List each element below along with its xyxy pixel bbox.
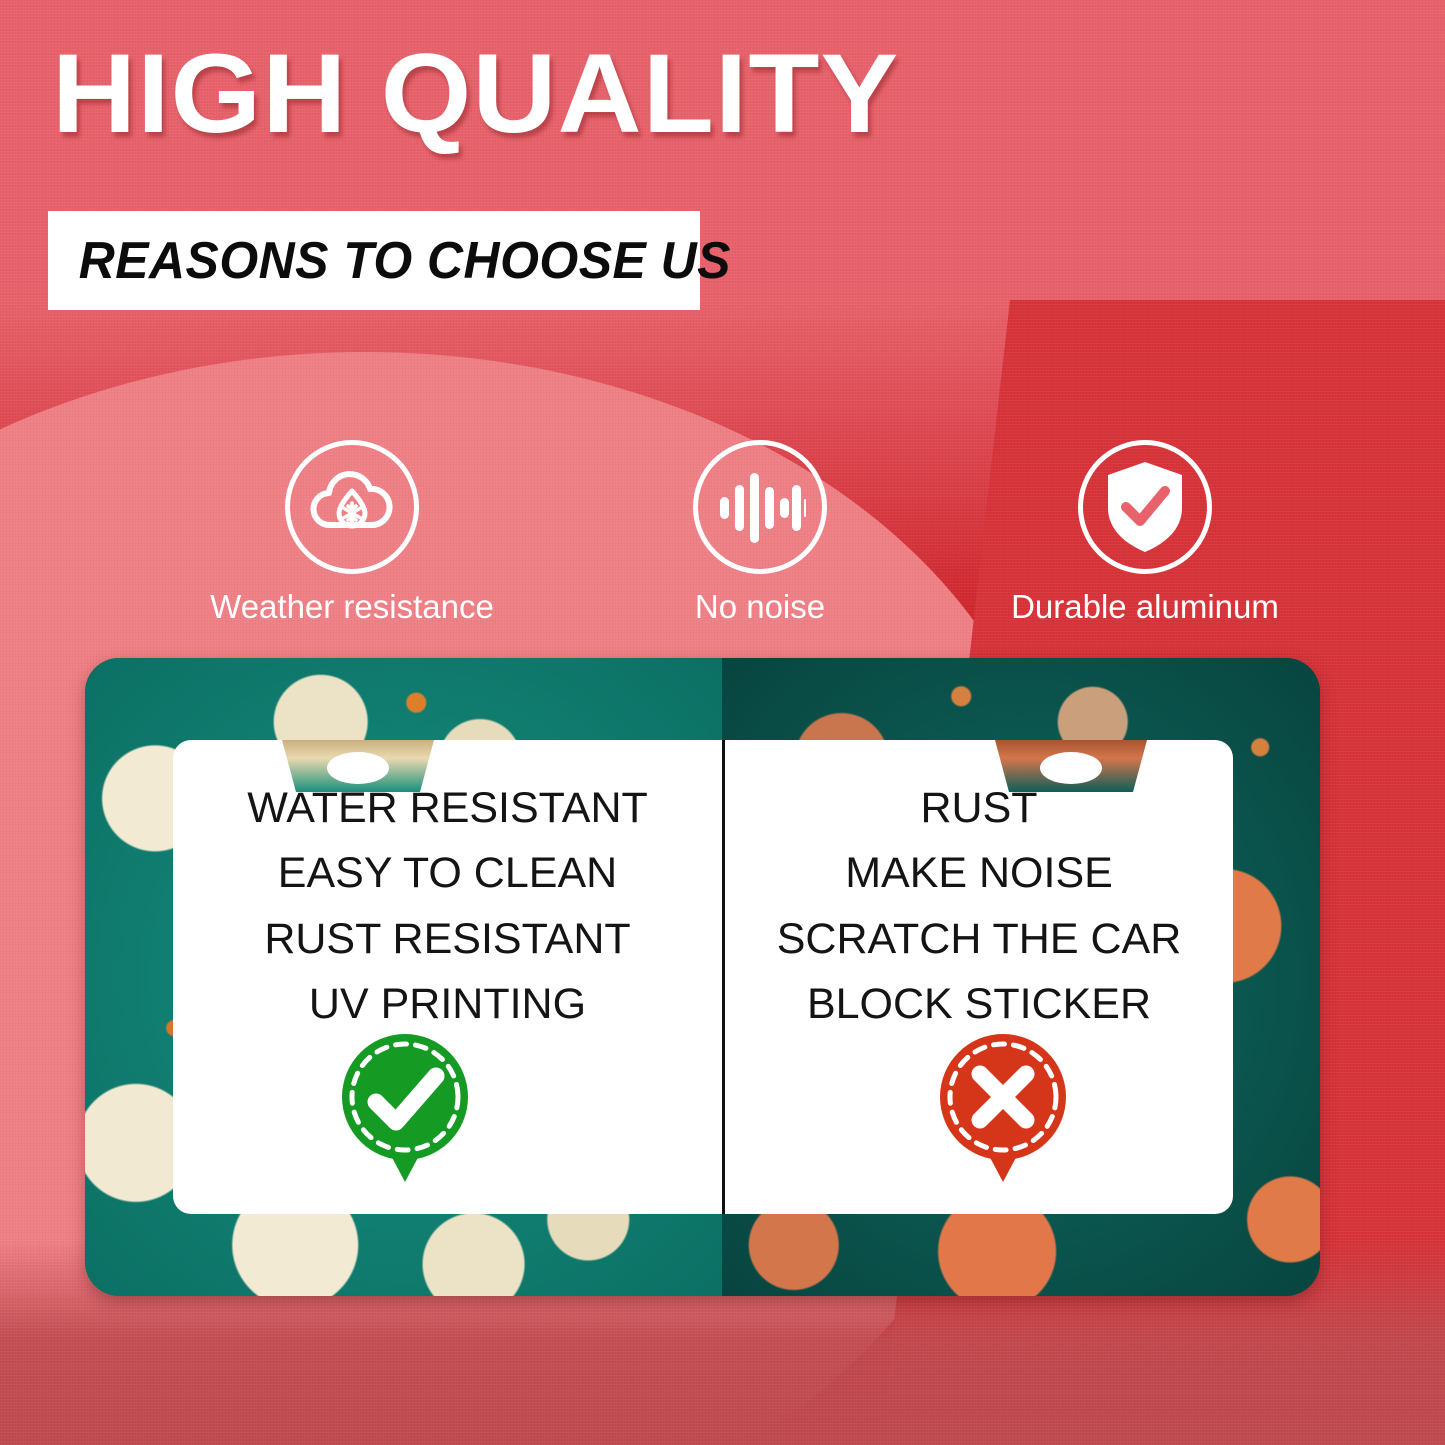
feature-label: No noise (620, 588, 900, 626)
x-badge-icon (938, 1032, 1068, 1184)
list-item: SCRATCH THE CAR (725, 907, 1233, 972)
cons-panel: RUST MAKE NOISE SCRATCH THE CAR BLOCK ST… (725, 776, 1233, 1037)
subheading-text: REASONS TO CHOOSE US (48, 231, 731, 291)
cons-list: RUST MAKE NOISE SCRATCH THE CAR BLOCK ST… (725, 776, 1233, 1037)
list-item: BLOCK STICKER (725, 972, 1233, 1037)
feature-weather-resistance: Weather resistance (182, 440, 522, 626)
feature-label: Durable aluminum (975, 588, 1315, 626)
sound-wave-icon (693, 440, 827, 574)
feature-row: Weather resistance No noise (0, 440, 1445, 640)
list-item: EASY TO CLEAN (173, 841, 722, 906)
pros-panel: WATER RESISTANT EASY TO CLEAN RUST RESIS… (173, 776, 722, 1037)
check-badge-icon (340, 1032, 470, 1184)
cloud-raindrop-snowflake-icon (285, 440, 419, 574)
page-title: HIGH QUALITY (52, 38, 899, 150)
list-item: UV PRINTING (173, 972, 722, 1037)
license-plate-frame-product: WATER RESISTANT EASY TO CLEAN RUST RESIS… (85, 658, 1320, 1296)
list-item: RUST RESISTANT (173, 907, 722, 972)
feature-no-noise: No noise (620, 440, 900, 626)
pros-list: WATER RESISTANT EASY TO CLEAN RUST RESIS… (173, 776, 722, 1037)
subheading-box: REASONS TO CHOOSE US (48, 211, 700, 310)
feature-durable-aluminum: Durable aluminum (975, 440, 1315, 626)
list-item: RUST (725, 776, 1233, 841)
list-item: WATER RESISTANT (173, 776, 722, 841)
list-item: MAKE NOISE (725, 841, 1233, 906)
feature-label: Weather resistance (182, 588, 522, 626)
infographic-canvas: HIGH QUALITY REASONS TO CHOOSE US (0, 0, 1445, 1445)
shield-check-icon (1078, 440, 1212, 574)
